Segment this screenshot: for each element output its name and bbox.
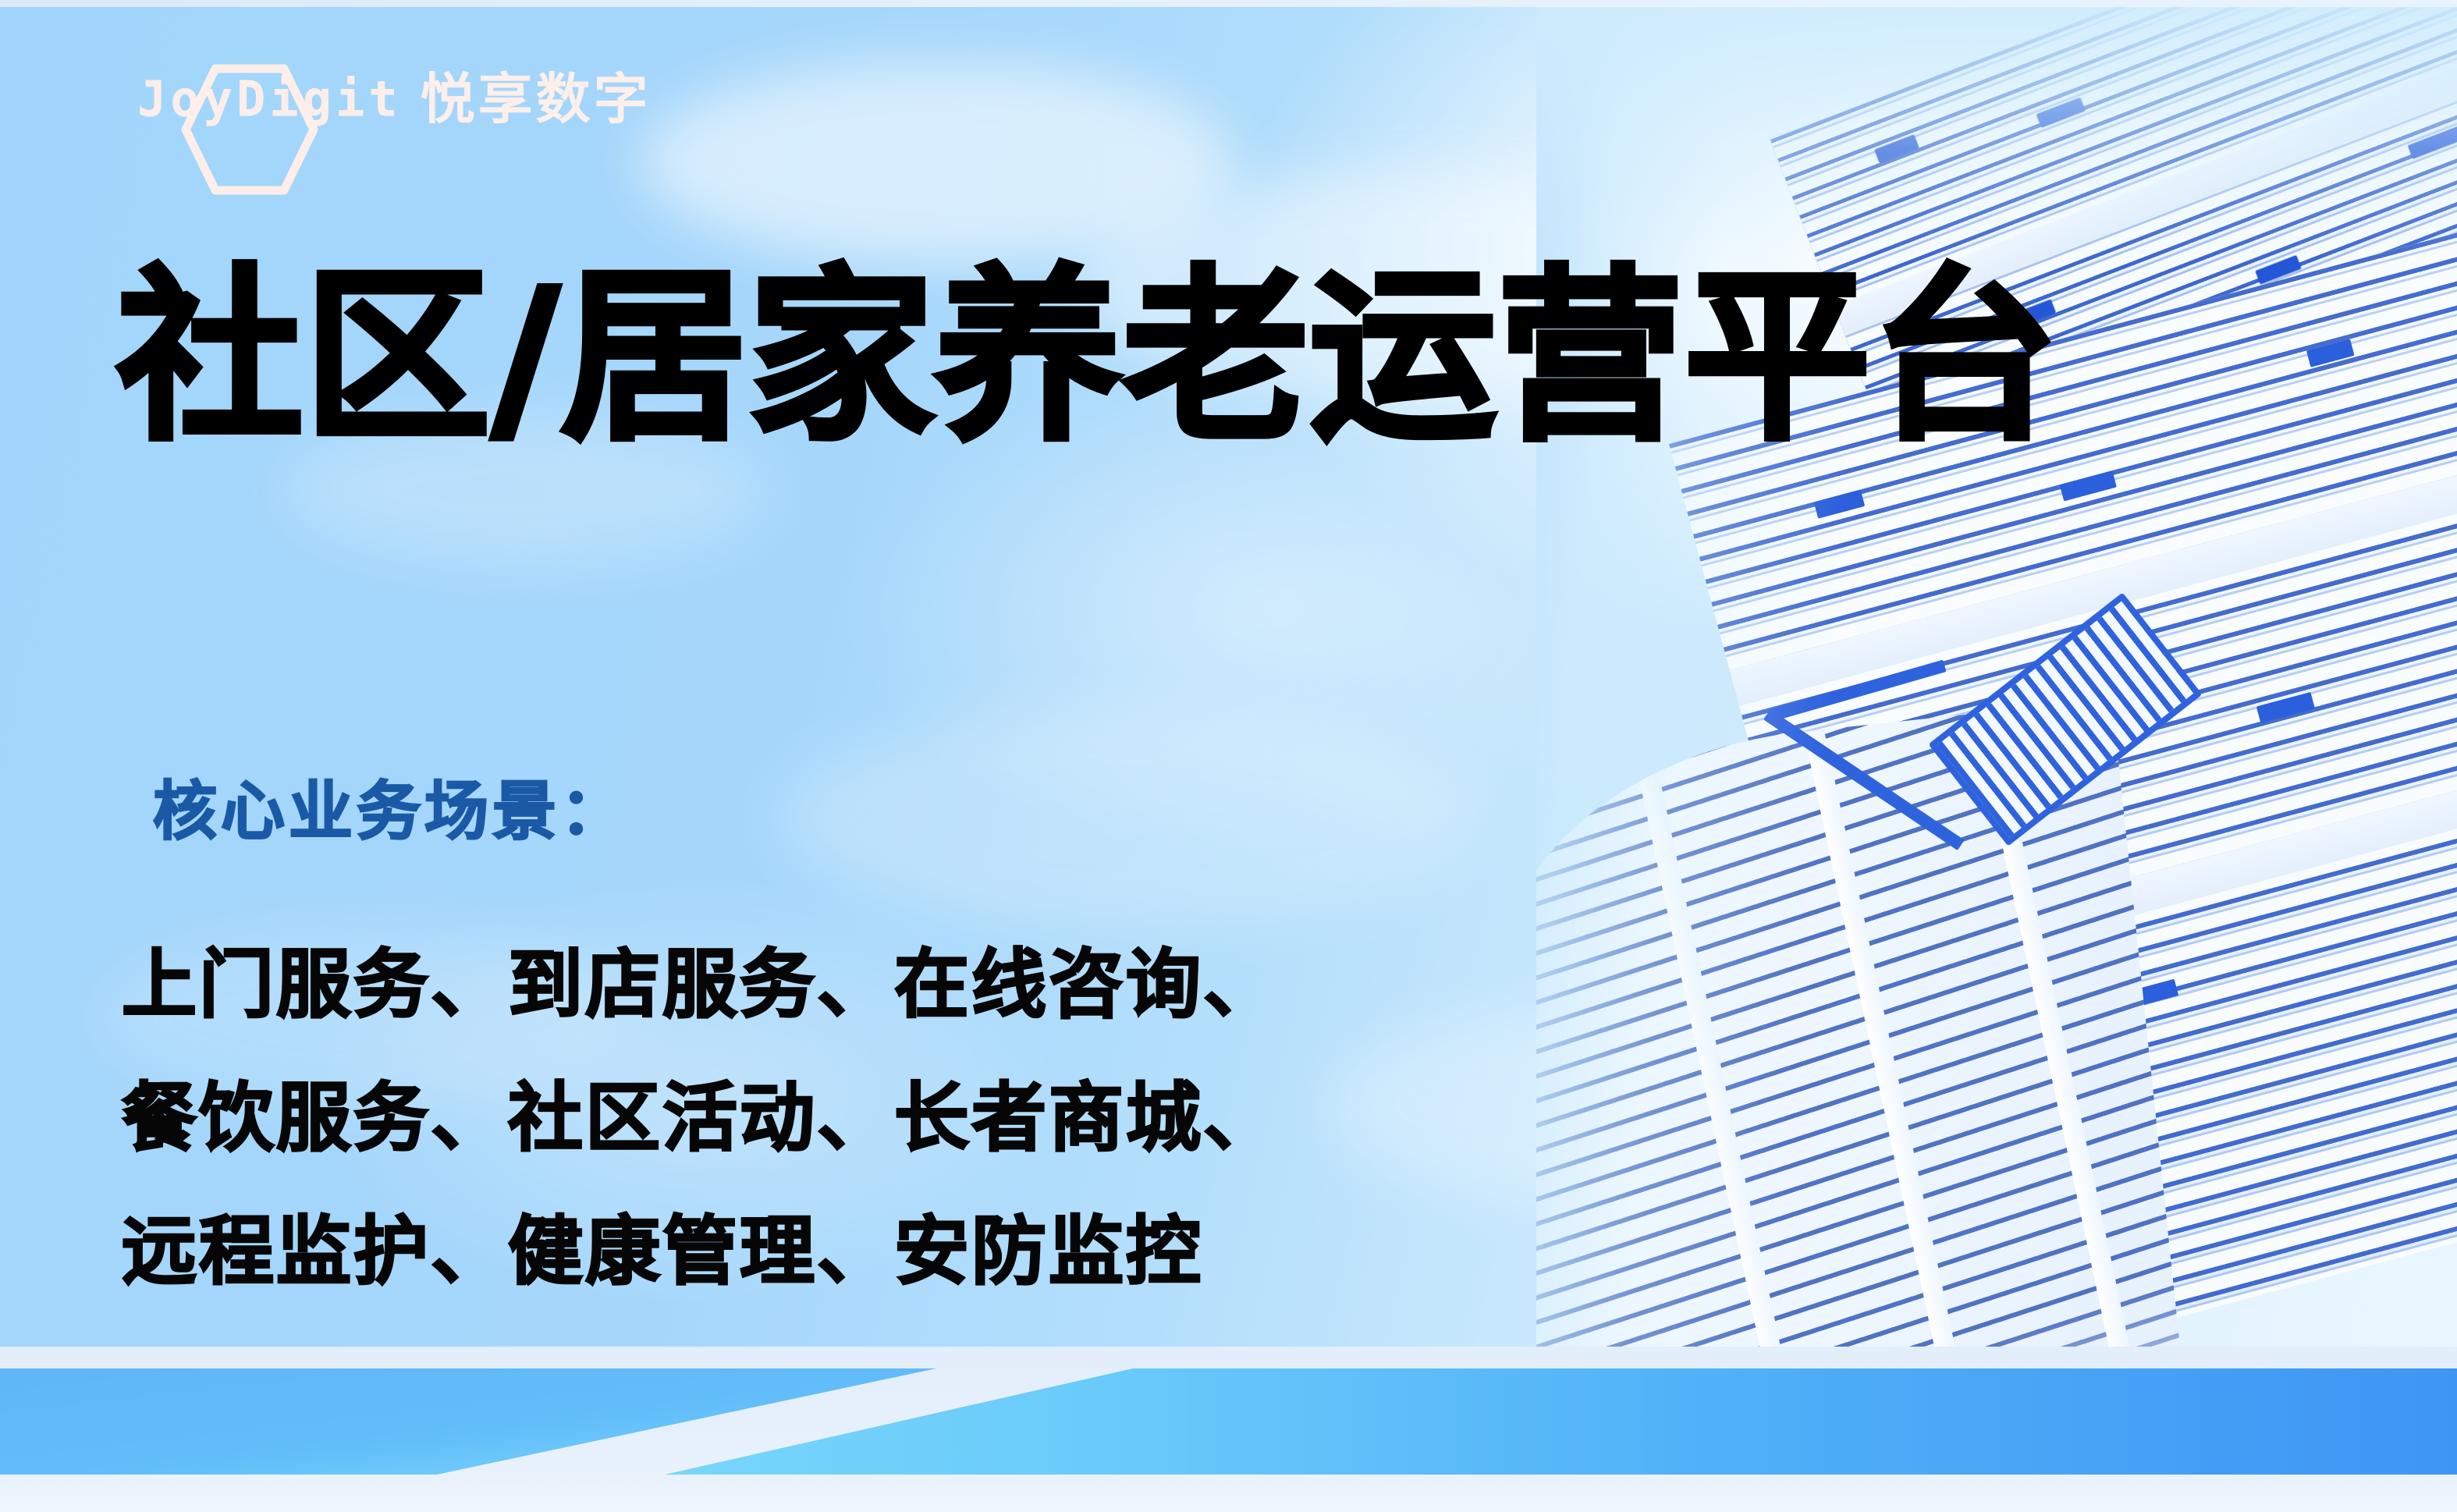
scenario-line: 上门服务、到店服务、在线咨询、	[122, 919, 1280, 1052]
bottom-ribbon	[0, 1347, 2457, 1512]
skyscraper-photo	[1536, 7, 2457, 1376]
scenario-line: 餐饮服务、社区活动、长者商城、	[122, 1052, 1280, 1186]
logo-wordmark: JoyDigit	[137, 75, 402, 123]
logo-wordmark-cn: 悦享数字	[421, 72, 652, 126]
top-edge-strip	[0, 0, 2457, 7]
scenario-line: 远程监护、健康管理、安防监控	[122, 1186, 1280, 1319]
slide-root: JoyDigit 悦享数字 社区/居家养老运营平台 核心业务场景： 上门服务、到…	[0, 0, 2457, 1512]
section-subhead: 核心业务场景：	[153, 780, 628, 844]
curved-facade-building	[1536, 699, 2185, 1376]
brand-logo: JoyDigit 悦享数字	[137, 72, 652, 126]
scenario-list: 上门服务、到店服务、在线咨询、 餐饮服务、社区活动、长者商城、 远程监护、健康管…	[122, 919, 1280, 1319]
cloud-shape	[780, 708, 1482, 927]
page-title: 社区/居家养老运营平台	[117, 257, 2059, 458]
